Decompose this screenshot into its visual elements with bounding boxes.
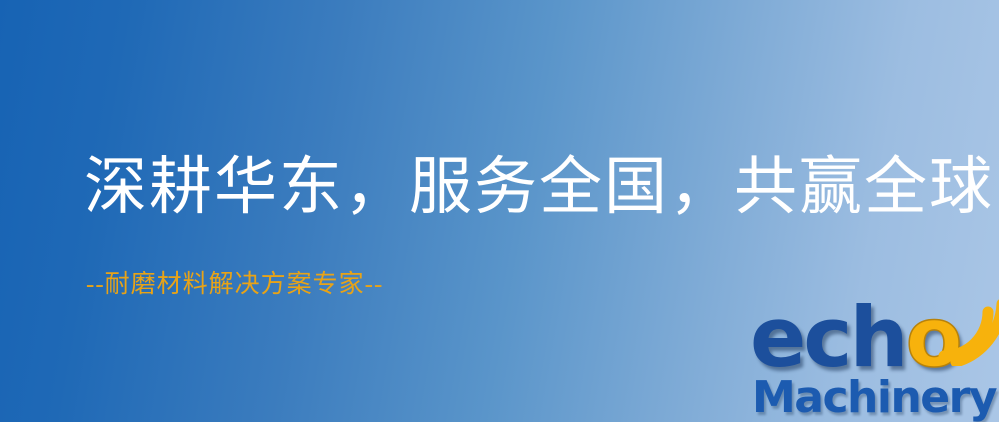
banner-headline: 深耕华东，服务全国，共赢全球 xyxy=(84,152,994,223)
logo-tagline: Machinery® xyxy=(752,372,999,422)
logo-tagline-text: Machinery xyxy=(752,372,996,422)
echo-machinery-logo: echo Machinery® xyxy=(742,296,999,422)
promo-banner: 深耕华东，服务全国，共赢全球 --耐磨材料解决方案专家-- echo Machi… xyxy=(0,0,999,422)
banner-subtitle: --耐磨材料解决方案专家-- xyxy=(86,264,383,300)
logo-wordmark: echo xyxy=(750,296,960,379)
